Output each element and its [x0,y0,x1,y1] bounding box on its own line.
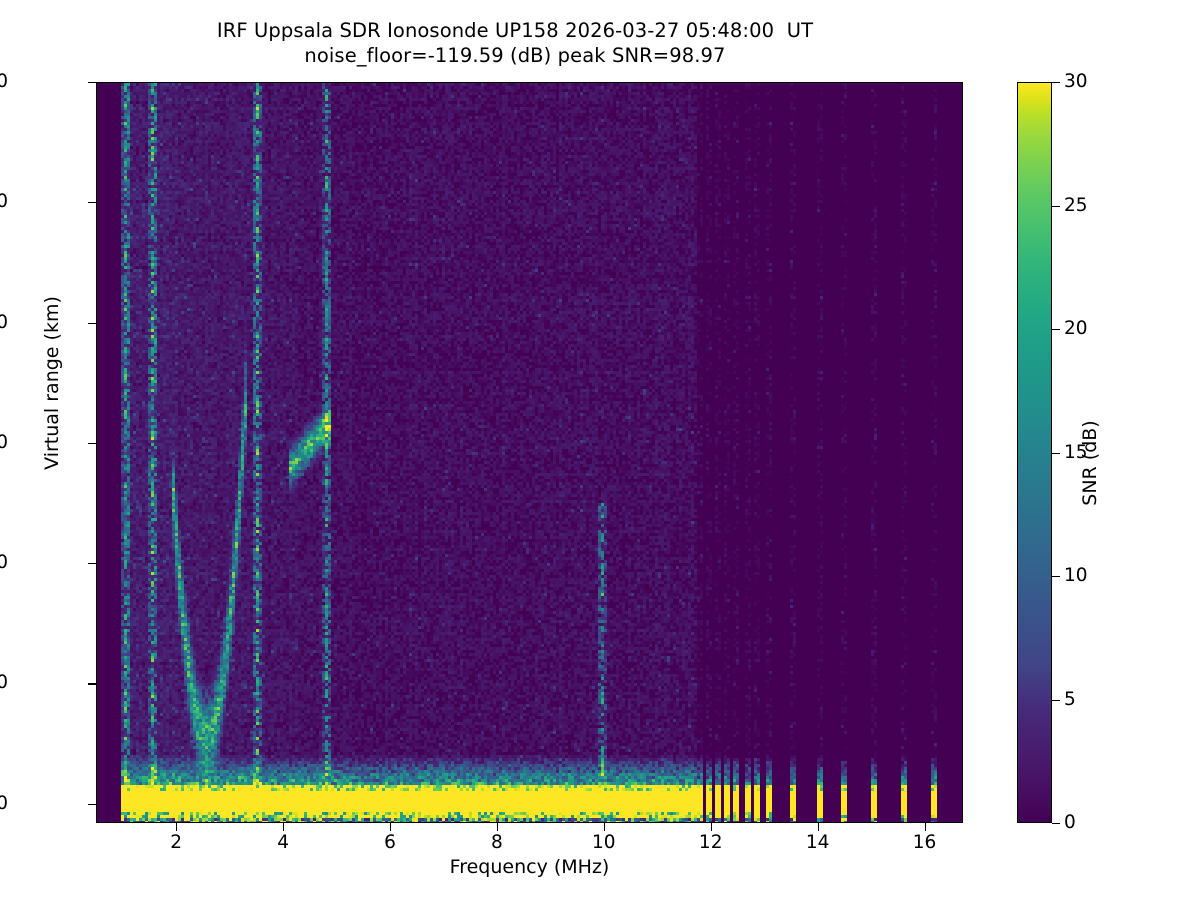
y-tick-mark [88,683,96,684]
colorbar-tick-label: 30 [1064,71,1088,92]
x-tick-label: 14 [773,832,863,853]
y-tick-label: 500 [0,191,8,212]
x-tick-mark [176,823,177,831]
colorbar-tick-mark [1052,453,1060,454]
y-tick-mark [88,202,96,203]
y-tick-mark [88,563,96,564]
x-tick-label: 16 [880,832,970,853]
y-tick-label: 200 [0,552,8,573]
x-tick-mark [390,823,391,831]
ionogram-heatmap [97,83,963,823]
x-tick-mark [818,823,819,831]
ionogram-figure: IRF Uppsala SDR Ionosonde UP158 2026-03-… [0,0,1200,900]
x-tick-mark [925,823,926,831]
colorbar-tick-mark [1052,700,1060,701]
y-tick-mark [88,443,96,444]
x-tick-label: 6 [345,832,435,853]
colorbar-tick-label: 5 [1064,689,1076,710]
colorbar-tick-label: 0 [1064,812,1076,833]
x-tick-mark [604,823,605,831]
x-tick-label: 4 [238,832,328,853]
x-tick-label: 10 [559,832,649,853]
colorbar-tick-mark [1052,823,1060,824]
x-tick-mark [497,823,498,831]
y-tick-label: 0 [0,793,8,814]
y-tick-label: 600 [0,71,8,92]
title-line-1: IRF Uppsala SDR Ionosonde UP158 2026-03-… [217,19,813,42]
y-tick-label: 400 [0,312,8,333]
ionogram-plot-area[interactable] [96,82,963,823]
y-tick-label: 100 [0,672,8,693]
colorbar-tick-mark [1052,576,1060,577]
title-line-2: noise_floor=-119.59 (dB) peak SNR=98.97 [304,44,725,67]
colorbar-tick-mark [1052,82,1060,83]
y-tick-mark [88,804,96,805]
x-tick-label: 8 [452,832,542,853]
y-tick-mark [88,82,96,83]
x-tick-label: 12 [666,832,756,853]
figure-title: IRF Uppsala SDR Ionosonde UP158 2026-03-… [0,18,1030,68]
colorbar-tick-mark [1052,329,1060,330]
y-axis-label: Virtual range (km) [41,63,63,703]
y-tick-mark [88,323,96,324]
snr-colorbar[interactable] [1017,82,1052,823]
x-tick-label: 2 [131,832,221,853]
x-tick-mark [283,823,284,831]
x-tick-mark [711,823,712,831]
x-axis-label: Frequency (MHz) [96,856,963,878]
y-tick-label: 300 [0,432,8,453]
colorbar-tick-mark [1052,206,1060,207]
colorbar-label: SNR (dB) [1079,203,1101,723]
